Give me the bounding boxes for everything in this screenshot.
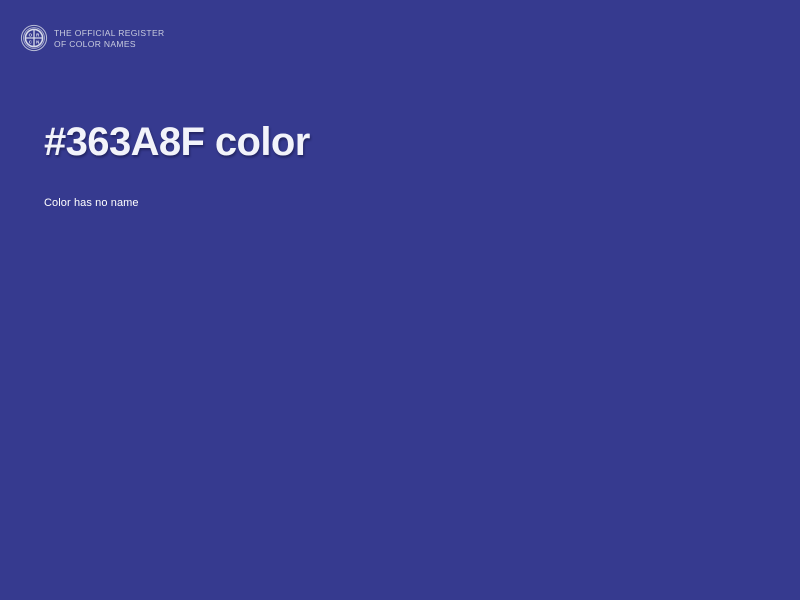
svg-text:R: R [36, 33, 40, 38]
brand-wordmark: THE OFFICIAL REGISTER OF COLOR NAMES [54, 27, 164, 50]
svg-text:C: C [29, 40, 33, 45]
svg-text:N: N [36, 40, 39, 45]
svg-text:O: O [29, 33, 33, 38]
color-detail-page: O R C N THE OFFICIAL REGISTER OF COLOR N… [0, 0, 800, 600]
official-register-seal-icon: O R C N [20, 24, 48, 52]
site-header[interactable]: O R C N THE OFFICIAL REGISTER OF COLOR N… [20, 24, 164, 52]
brand-wordmark-line-2: OF COLOR NAMES [54, 39, 164, 50]
brand-wordmark-line-1: THE OFFICIAL REGISTER [54, 28, 164, 39]
page-title: #363A8F color [44, 118, 756, 166]
color-name-status: Color has no name [44, 166, 756, 211]
color-info-block: #363A8F color Color has no name [44, 118, 756, 211]
